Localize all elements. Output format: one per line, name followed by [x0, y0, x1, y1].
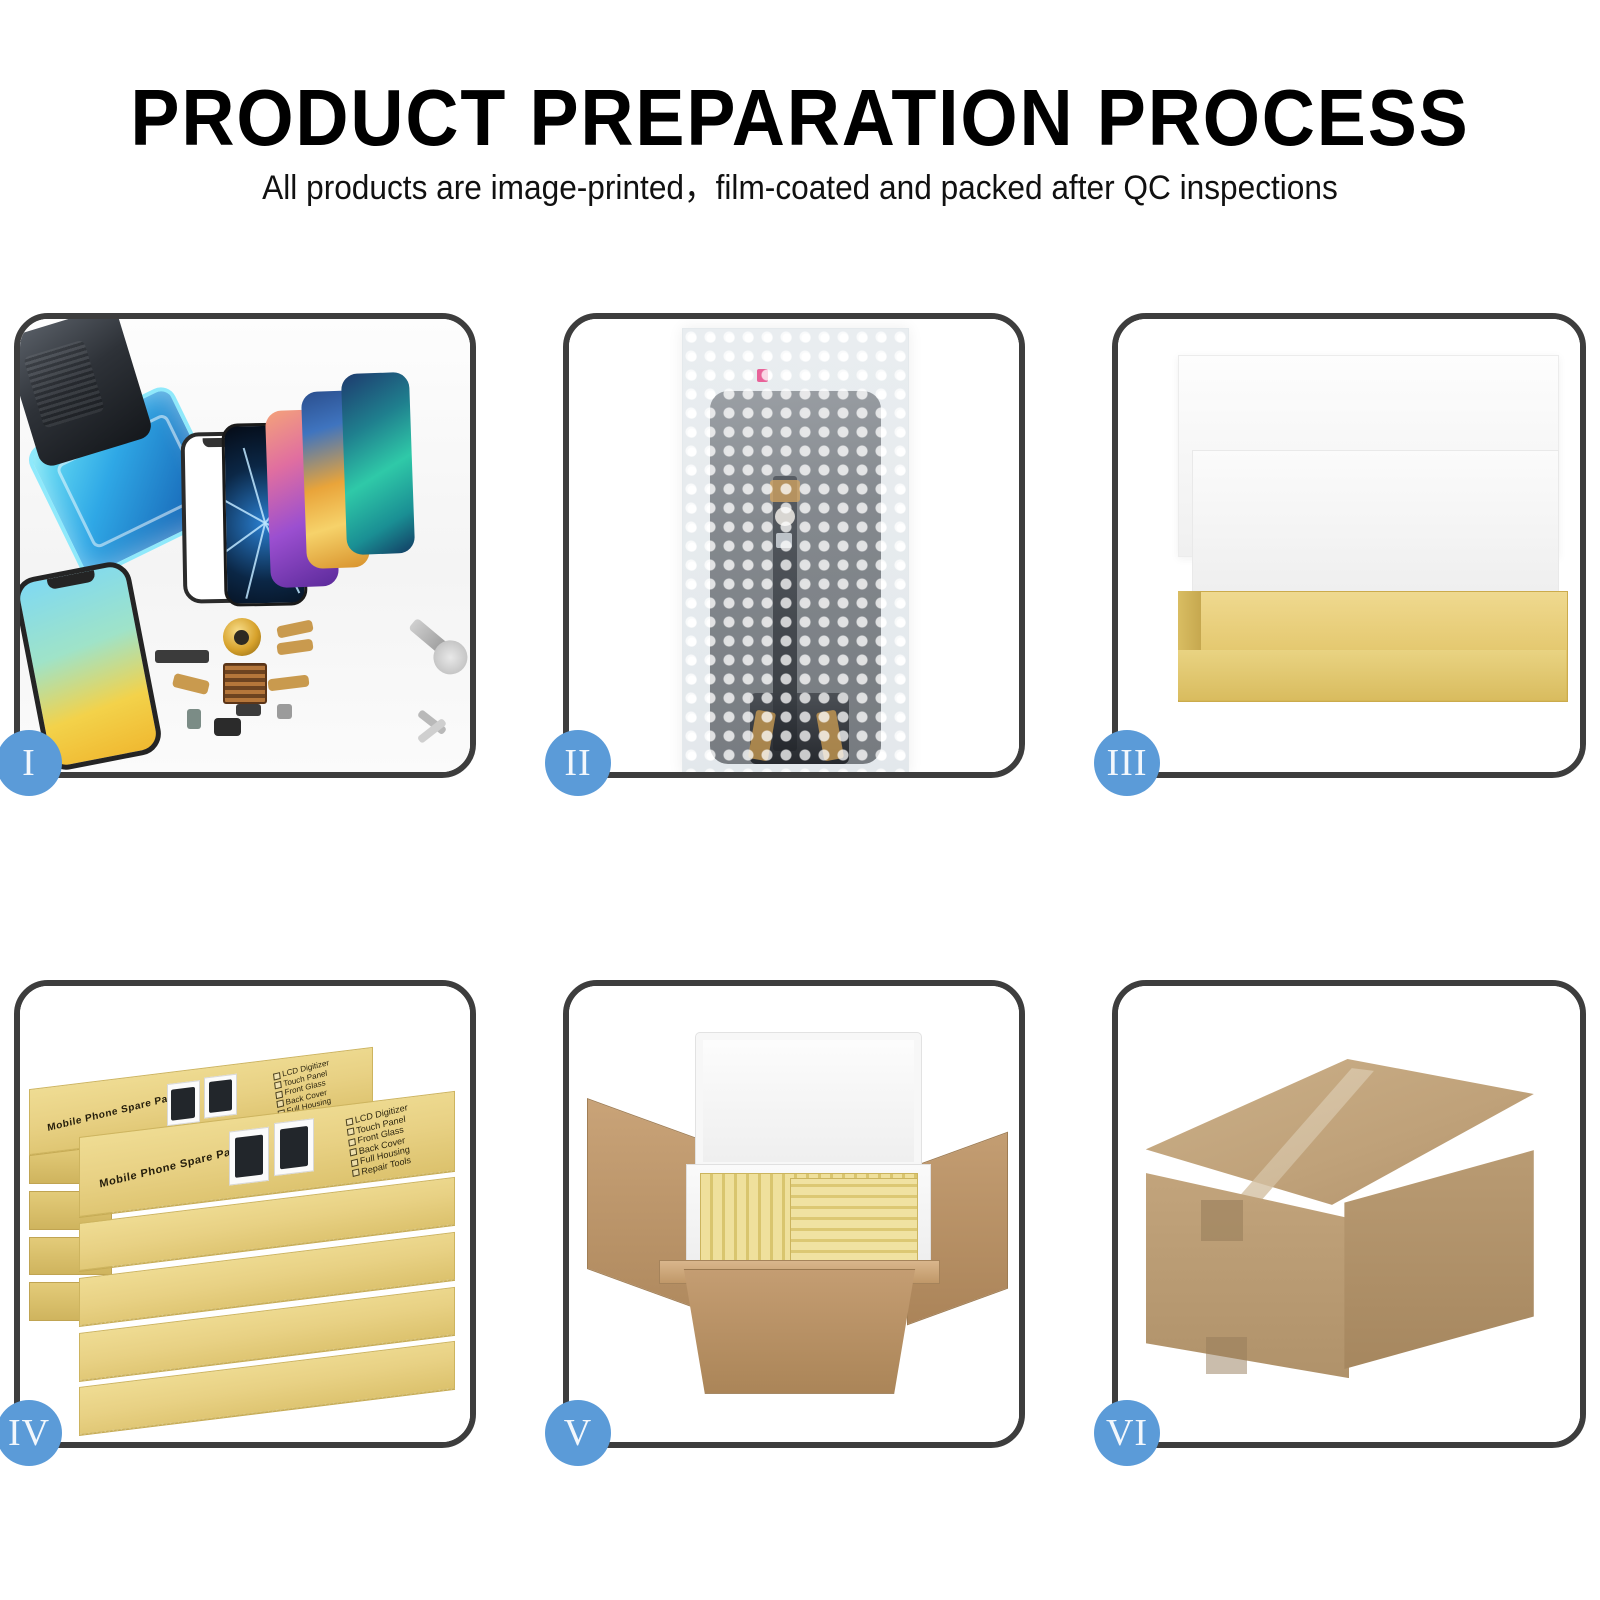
- sim-tray-part: [187, 709, 201, 729]
- retail-box-thumbnail: [204, 1074, 237, 1120]
- teal-display-part: [341, 372, 415, 555]
- process-step-grid: I II: [0, 0, 1600, 1600]
- box-inner-wall: [1192, 450, 1559, 601]
- ic-chip-part: [223, 663, 268, 703]
- step-badge-4: IV: [0, 1400, 62, 1466]
- speaker-part: [214, 718, 241, 736]
- step-panel-5[interactable]: V: [563, 980, 1025, 1448]
- flex-cable-part: [172, 673, 210, 695]
- step-badge-5: V: [545, 1400, 611, 1466]
- flex-connector: [770, 480, 799, 502]
- cleaning-brush-tool: [408, 617, 455, 659]
- retail-box-thumbnail: [167, 1081, 200, 1127]
- step-panel-1[interactable]: I: [14, 313, 476, 778]
- step-4-photo: Mobile Phone Spare Parts LCD Digitizer T…: [20, 986, 470, 1442]
- step-panel-4[interactable]: Mobile Phone Spare Parts LCD Digitizer T…: [14, 980, 476, 1448]
- step-6-photo: [1118, 986, 1580, 1442]
- gold-boxes-row: [790, 1178, 918, 1262]
- volume-button-flex-part: [267, 674, 309, 691]
- small-chip-part: [236, 704, 261, 716]
- bubble-wrap-sleeve: [682, 328, 909, 772]
- carton-side-face: [1344, 1150, 1533, 1369]
- carton-tab: [1201, 1200, 1243, 1241]
- step-5-photo: [569, 986, 1019, 1442]
- wireless-charging-coil-part: [223, 618, 261, 657]
- step-badge-2: II: [545, 730, 611, 796]
- camera-module-part: [277, 704, 292, 719]
- step-panel-3[interactable]: III: [1112, 313, 1586, 778]
- step-panel-6[interactable]: VI: [1112, 980, 1586, 1448]
- foam-box-lid: [695, 1032, 922, 1171]
- retail-box-label: Mobile Phone Spare Parts: [98, 1142, 246, 1190]
- earpiece-mesh-part: [155, 650, 209, 664]
- home-button: [775, 507, 795, 527]
- retail-box-thumbnail: [274, 1118, 313, 1176]
- step-panel-2[interactable]: II: [563, 313, 1025, 778]
- step-3-photo: [1118, 319, 1580, 772]
- pink-qc-sticker: [757, 369, 769, 382]
- kraft-box-front: [1178, 650, 1566, 700]
- carton-front-face: [1146, 1173, 1349, 1378]
- driver-ic: [776, 533, 792, 548]
- retail-box-thumbnail: [229, 1127, 268, 1185]
- carton-front-panel: [668, 1269, 931, 1394]
- step-badge-6: VI: [1094, 1400, 1160, 1466]
- flex-cable-part: [276, 619, 314, 638]
- flex-cable-part: [276, 638, 313, 655]
- carton-tab: [1206, 1337, 1248, 1373]
- step-1-photo: [20, 319, 470, 772]
- step-badge-3: III: [1094, 730, 1160, 796]
- step-2-photo: [569, 319, 1019, 772]
- step-badge-1: I: [0, 730, 62, 796]
- retail-box-checklist: LCD Digitizer Touch Panel Front Glass Ba…: [345, 1102, 414, 1179]
